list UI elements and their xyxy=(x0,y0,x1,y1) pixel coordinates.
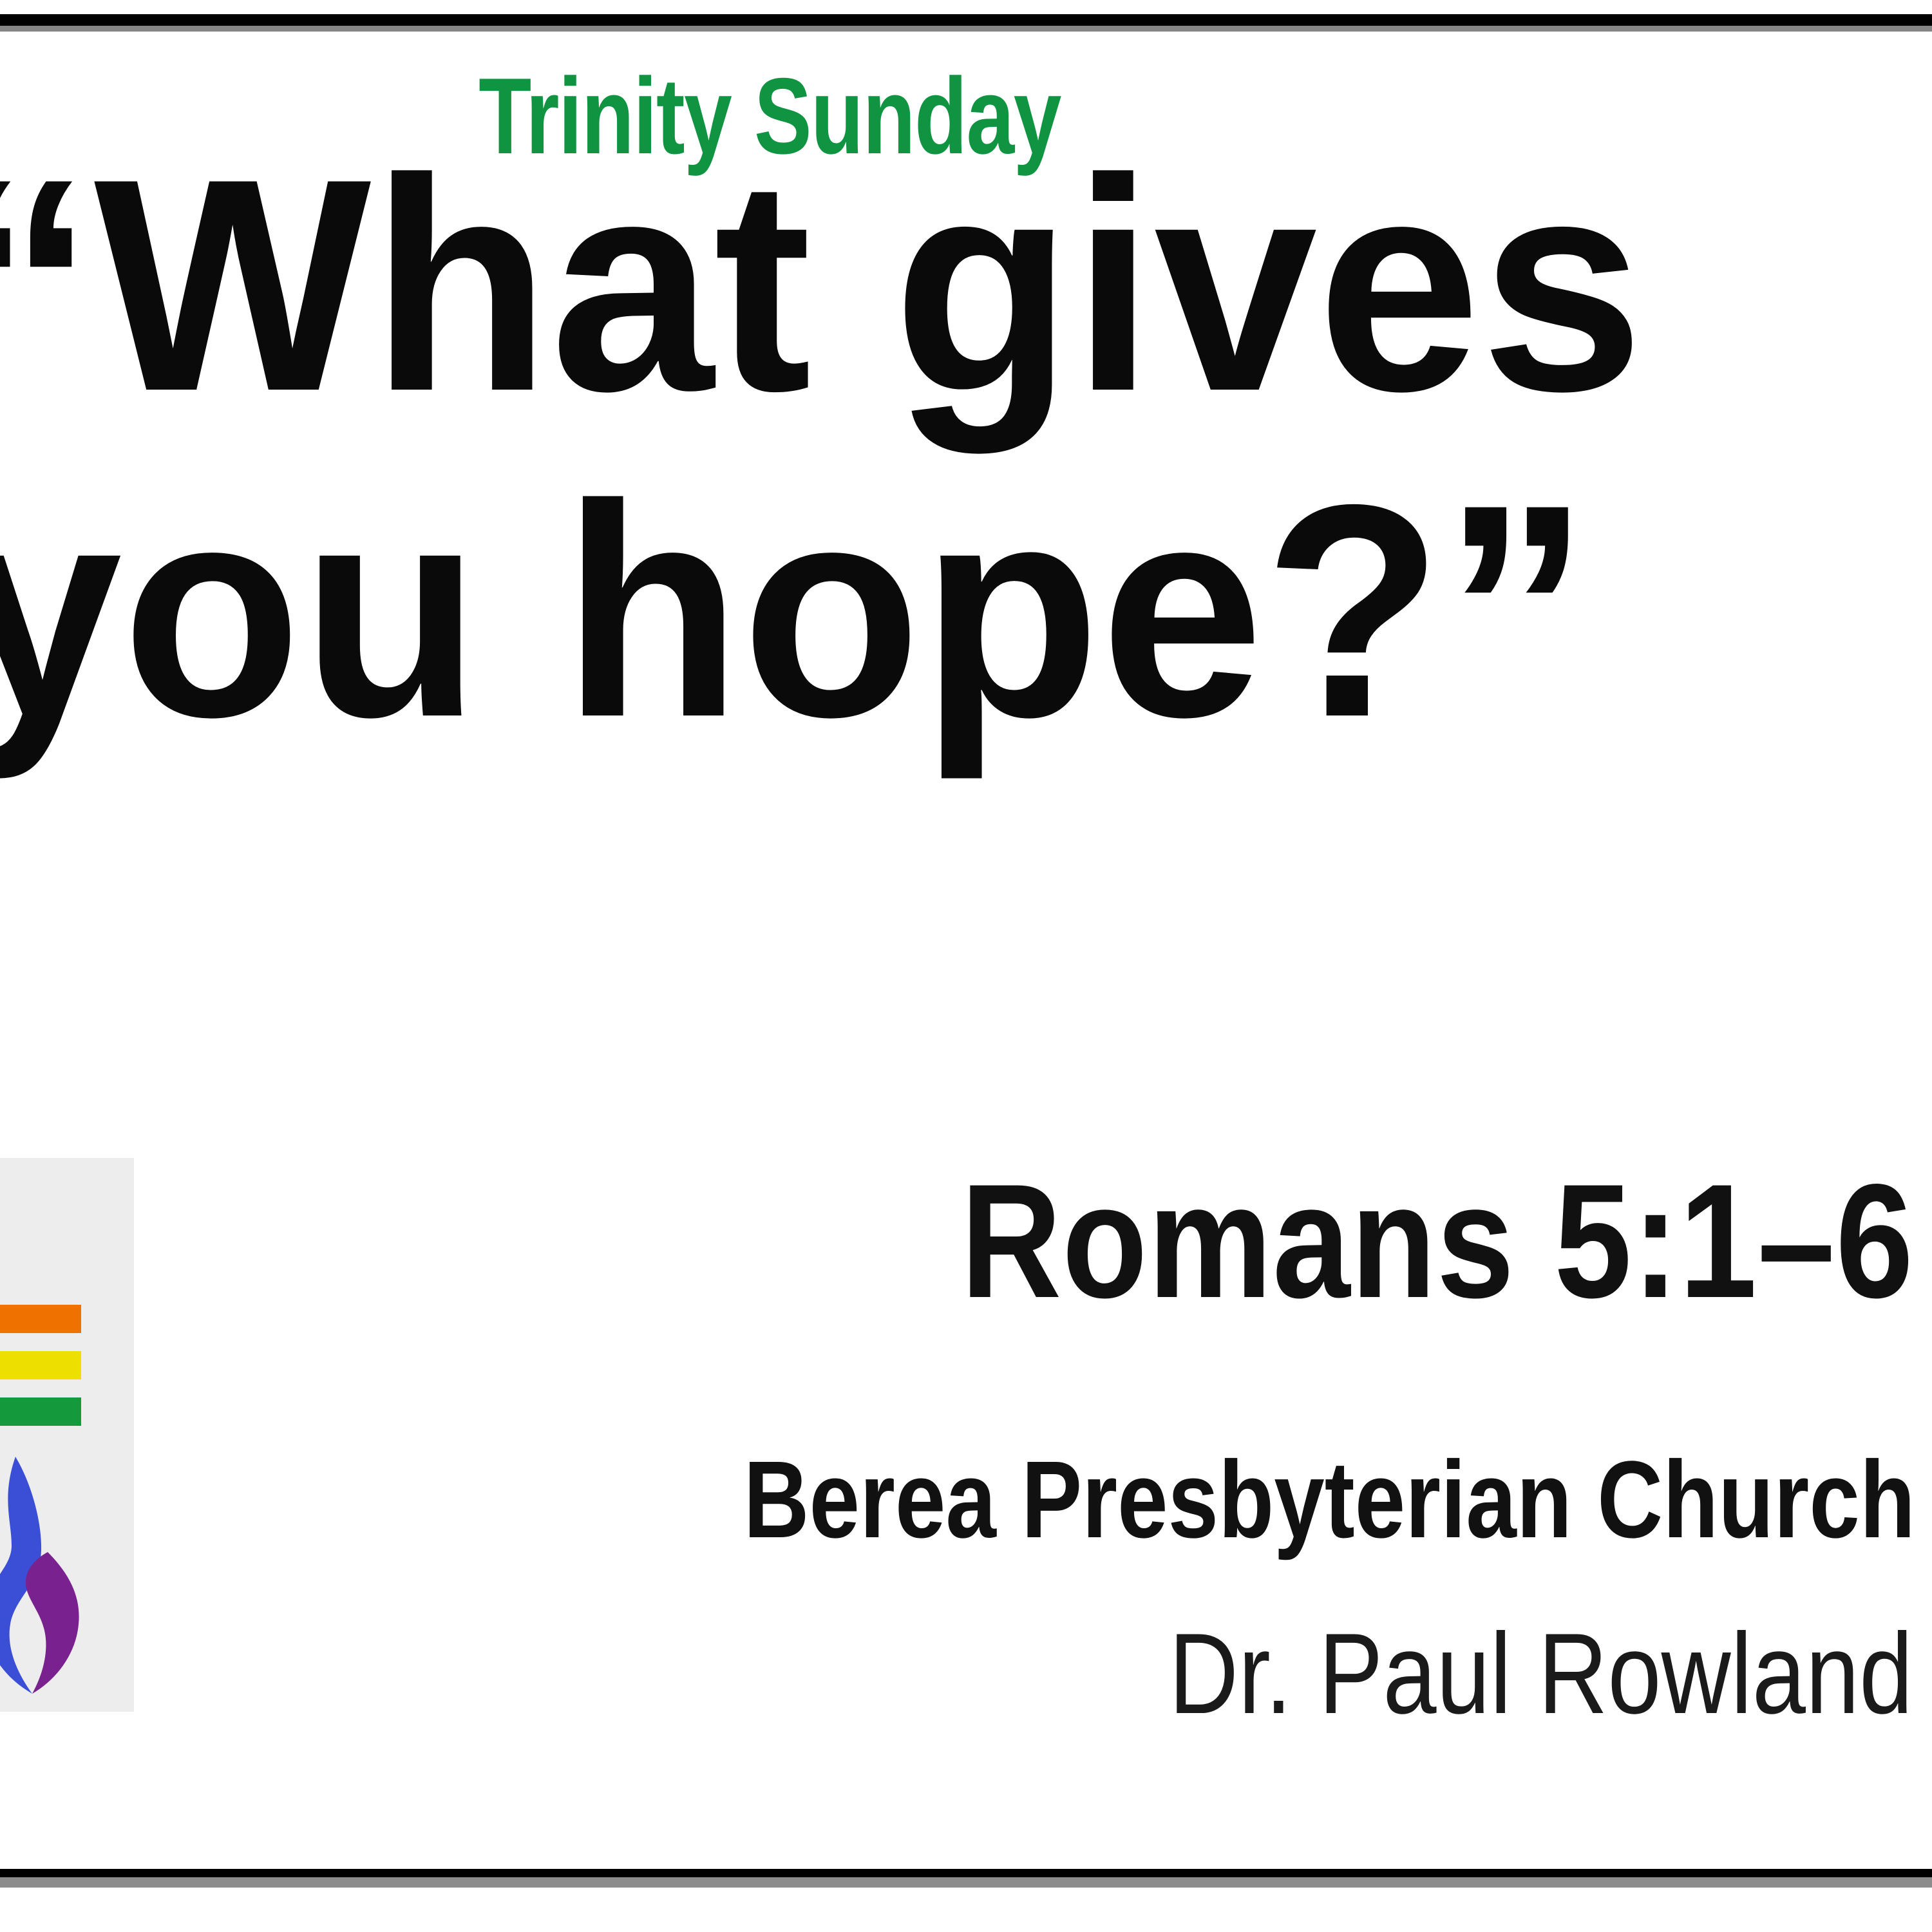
bottom-border-shadow-rule xyxy=(0,1877,1932,1888)
yellow-bar-icon xyxy=(0,1351,81,1379)
scripture-reference: Romans 5:1–6 xyxy=(961,1160,1914,1323)
preacher-name: Dr. Paul Rowland xyxy=(1169,1616,1913,1731)
bottom-border-rule xyxy=(0,1869,1932,1877)
logo-stripe-group xyxy=(0,1305,81,1444)
sermon-title-line-1: “What gives xyxy=(0,152,1932,419)
sermon-title: “What gives you hope?” xyxy=(0,152,1932,744)
flame-icon xyxy=(0,1449,95,1700)
church-logo-panel xyxy=(0,1158,134,1712)
sermon-title-slide: Trinity Sunday “What gives you hope?” Ro… xyxy=(0,0,1932,1932)
top-border-shadow-rule xyxy=(0,26,1932,32)
top-border-rule xyxy=(0,14,1932,26)
sermon-title-line-2: you hope?” xyxy=(0,478,1932,744)
green-bar-icon xyxy=(0,1397,81,1426)
orange-bar-icon xyxy=(0,1305,81,1333)
church-name: Berea Presbyterian Church xyxy=(744,1445,1915,1555)
